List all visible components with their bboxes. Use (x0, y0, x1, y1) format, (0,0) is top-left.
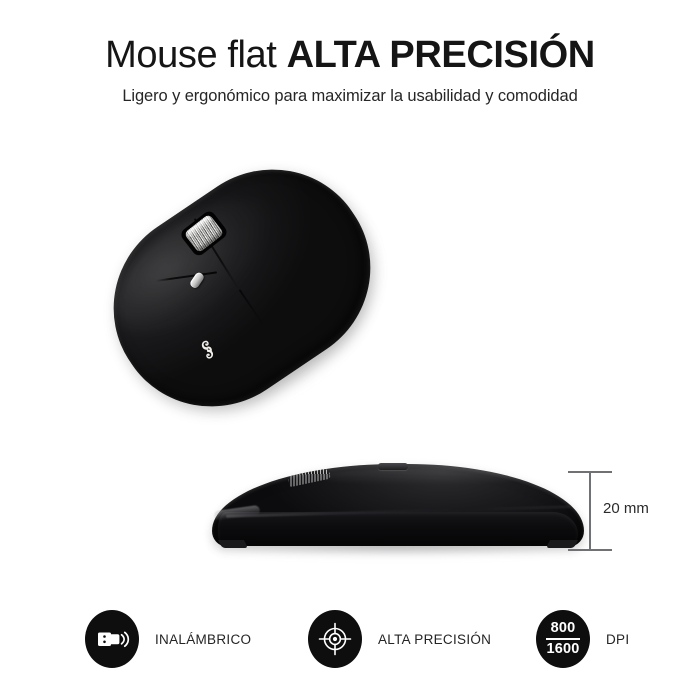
header: Mouse flat ALTA PRECISIÓN Ligero y ergon… (0, 32, 700, 107)
mouse-top-rim-light (76, 132, 408, 444)
dpi-value-stack: 800 1600 (536, 610, 590, 668)
mouse-side-top-button (378, 463, 408, 470)
mouse-top-view-image (60, 138, 420, 463)
feature-precision: ALTA PRECISIÓN (308, 608, 491, 670)
product-infographic: Mouse flat ALTA PRECISIÓN Ligero y ergon… (0, 0, 700, 700)
page-title: Mouse flat ALTA PRECISIÓN (0, 32, 700, 78)
dimension-label: 20 mm (603, 500, 649, 518)
dimension-cap-bottom (568, 549, 612, 551)
brand-logo-icon (195, 337, 221, 363)
feature-label-dpi: DPI (606, 632, 629, 647)
mouse-side-highlight (316, 466, 526, 484)
wireless-usb-dongle-icon (85, 610, 139, 668)
mouse-side-view-image (196, 446, 596, 566)
dimension-line (589, 472, 591, 550)
dpi-divider (546, 638, 580, 640)
height-dimension-annotation: 20 mm (565, 464, 695, 559)
dpi-value-low: 800 (551, 621, 576, 636)
feature-label-wireless: INALÁMBRICO (155, 632, 251, 647)
feature-dpi: 800 1600 DPI (536, 608, 629, 670)
page-subtitle: Ligero y ergonómico para maximizar la us… (0, 85, 700, 107)
dpi-value-high: 1600 (546, 642, 579, 657)
feature-list: INALÁMBRICO ALTA PRECISIÓN 800 (0, 608, 700, 678)
mouse-top-body-group (76, 132, 408, 444)
dpi-value-badge: 800 1600 (536, 610, 590, 668)
mouse-side-base (218, 512, 578, 546)
title-bold-part: ALTA PRECISIÓN (287, 34, 595, 76)
feature-label-precision: ALTA PRECISIÓN (378, 632, 491, 647)
title-light-part: Mouse flat (105, 34, 286, 76)
crosshair-target-icon (308, 610, 362, 668)
mouse-foot-left (218, 540, 248, 548)
feature-wireless: INALÁMBRICO (85, 608, 251, 670)
